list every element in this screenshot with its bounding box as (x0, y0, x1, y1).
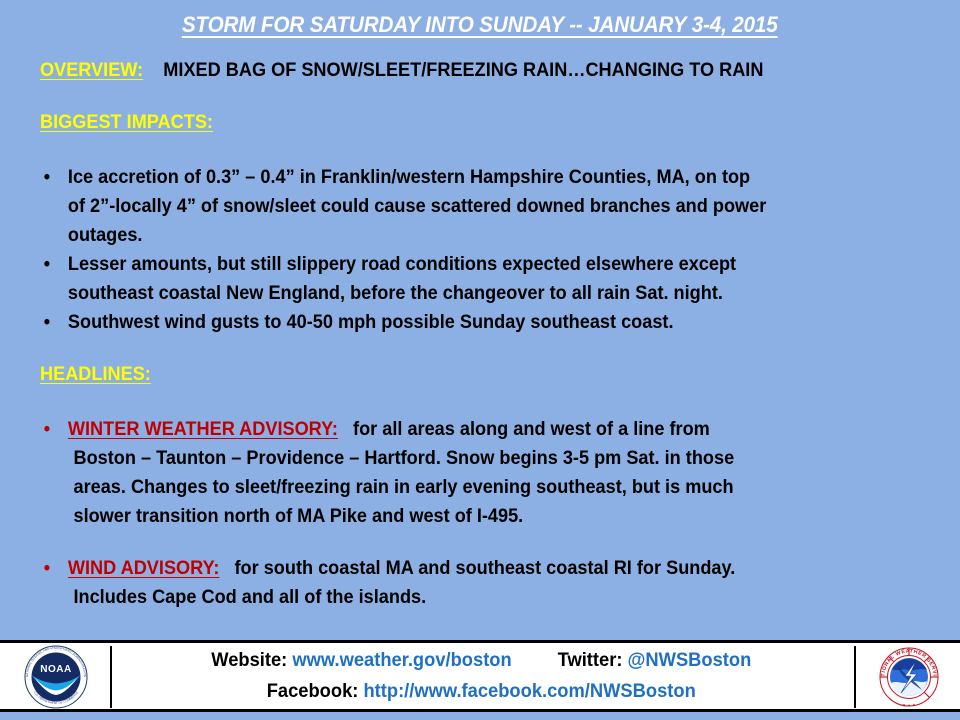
bullet-dot-icon: • (44, 163, 50, 192)
facebook-url-link[interactable]: http://www.facebook.com/NWSBoston (363, 680, 695, 702)
headline-2-line-2: Includes Cape Cod and all of the islands… (40, 583, 868, 612)
impact-bullet-2-line-2: southeast coastal New England, before th… (40, 279, 868, 308)
bullet-dot-icon: • (44, 415, 50, 444)
bullet-dot-icon: • (44, 250, 50, 279)
footer-line-1: Website: www.weather.gov/boston Twitter:… (211, 645, 751, 676)
website-label: Website: (211, 649, 287, 671)
spacer-after-impacts-heading (40, 137, 930, 163)
footer-divider-left (110, 646, 112, 708)
bullet-dot-icon: • (44, 554, 50, 583)
overview-text: MIXED BAG OF SNOW/SLEET/FREEZING RAIN…CH… (163, 59, 763, 81)
headline-2-spacer (224, 557, 234, 579)
slide-title-text: STORM FOR SATURDAY INTO SUNDAY -- JANUAR… (182, 12, 778, 38)
twitter-handle-link[interactable]: @NWSBoston (627, 649, 751, 671)
impact-bullet-3-line-1: Southwest wind gusts to 40-50 mph possib… (68, 311, 674, 333)
impact-bullet-1-line-1: Ice accretion of 0.3” – 0.4” in Franklin… (68, 166, 750, 188)
impact-bullet-2: • Lesser amounts, but still slippery roa… (40, 250, 868, 279)
spacer-before-headlines (40, 337, 930, 360)
headline-2-line-1-rest: for south coastal MA and southeast coast… (234, 557, 735, 579)
winter-weather-advisory-label: WINTER WEATHER ADVISORY: (68, 418, 338, 440)
slide-title: STORM FOR SATURDAY INTO SUNDAY -- JANUAR… (0, 12, 960, 38)
footer-bar: NOAA NATIONAL OCEANIC AND ATMOSPHERIC AD… (0, 640, 960, 712)
overview-line: OVERVIEW: MIXED BAG OF SNOW/SLEET/FREEZI… (40, 56, 868, 85)
headline-1-line-3: areas. Changes to sleet/freezing rain in… (40, 473, 868, 502)
footer-contact-block: Website: www.weather.gov/boston Twitter:… (120, 643, 842, 709)
svg-text:NOAA: NOAA (40, 664, 71, 675)
impact-bullet-3: • Southwest wind gusts to 40-50 mph poss… (40, 308, 868, 337)
headline-1-line-4: slower transition north of MA Pike and w… (40, 502, 868, 531)
twitter-label: Twitter: (557, 649, 622, 671)
noaa-logo: NOAA NATIONAL OCEANIC AND ATMOSPHERIC AD… (8, 645, 104, 709)
headline-1-line-2: Boston – Taunton – Providence – Hartford… (40, 444, 868, 473)
spacer-after-headlines-heading (40, 389, 930, 415)
facebook-label: Facebook: (266, 680, 358, 702)
bullet-dot-icon: • (44, 308, 50, 337)
headline-item-winter-weather-advisory: • WINTER WEATHER ADVISORY: for all areas… (40, 415, 868, 444)
headline-item-wind-advisory: • WIND ADVISORY: for south coastal MA an… (40, 554, 868, 583)
bottom-strip (0, 712, 960, 720)
spacer-after-overview (40, 85, 930, 108)
impact-bullet-1-line-2: of 2”-locally 4” of snow/sleet could cau… (40, 192, 868, 221)
slide-canvas: STORM FOR SATURDAY INTO SUNDAY -- JANUAR… (0, 0, 960, 720)
impact-bullet-1-line-3: outages. (40, 221, 868, 250)
overview-spacer (148, 59, 163, 81)
impact-bullet-2-line-1: Lesser amounts, but still slippery road … (68, 253, 736, 275)
headline-1-spacer (343, 418, 353, 440)
footer-line-2: Facebook: http://www.facebook.com/NWSBos… (266, 676, 695, 707)
headlines-heading: HEADLINES: (40, 360, 868, 389)
footer-divider-right (854, 646, 856, 708)
impact-bullet-1: • Ice accretion of 0.3” – 0.4” in Frankl… (40, 163, 868, 192)
footer-inner: NOAA NATIONAL OCEANIC AND ATMOSPHERIC AD… (0, 643, 960, 709)
spacer-between-headlines (40, 531, 930, 554)
overview-label: OVERVIEW: (40, 59, 143, 81)
slide-body: OVERVIEW: MIXED BAG OF SNOW/SLEET/FREEZI… (40, 56, 930, 612)
nws-logo: NATIONAL WEATHER SERVICE (866, 645, 952, 709)
wind-advisory-label: WIND ADVISORY: (68, 557, 219, 579)
headline-1-line-1-rest: for all areas along and west of a line f… (353, 418, 710, 440)
impacts-heading: BIGGEST IMPACTS: (40, 108, 868, 137)
website-url-link[interactable]: www.weather.gov/boston (292, 649, 511, 671)
